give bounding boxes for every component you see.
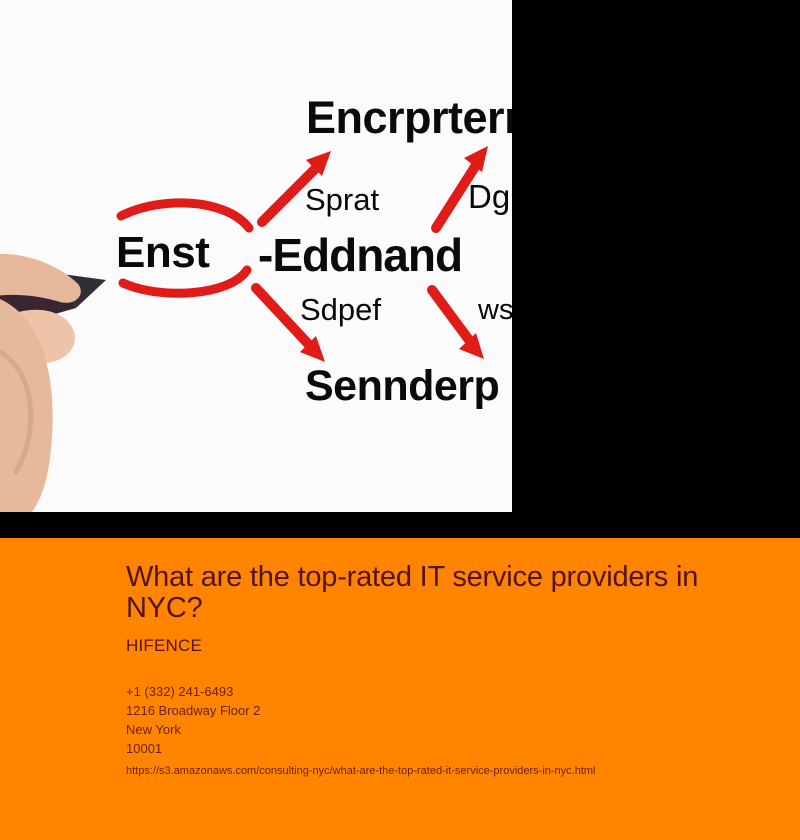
whiteboard-image: Encrprterni Sprat Dg Enst -Eddnand Sdpef… <box>0 0 512 512</box>
page-root: Encrprterni Sprat Dg Enst -Eddnand Sdpef… <box>0 0 800 840</box>
hero-media: Encrprterni Sprat Dg Enst -Eddnand Sdpef… <box>0 0 800 538</box>
info-content: What are the top-rated IT service provid… <box>126 562 766 778</box>
contact-postal-code: 10001 <box>126 739 766 758</box>
diagram-label-ws: ws <box>478 294 512 327</box>
hand-with-marker-illustration <box>0 196 194 512</box>
arrow-down-right <box>432 290 484 359</box>
page-title: What are the top-rated IT service provid… <box>126 562 766 624</box>
contact-street: 1216 Broadway Floor 2 <box>126 701 766 720</box>
contact-phone[interactable]: +1 (332) 241-6493 <box>126 682 766 701</box>
diagram-bottom-word: Sennderp <box>305 362 499 411</box>
diagram-label-sdpef: Sdpef <box>300 292 381 328</box>
diagram-label-sprat: Sprat <box>305 182 379 218</box>
diagram-center-right-word: -Eddnand <box>258 228 462 282</box>
contact-city: New York <box>126 720 766 739</box>
diagram-top-word: Encrprterni <box>306 92 512 144</box>
info-panel: What are the top-rated IT service provid… <box>0 538 800 840</box>
diagram-label-dg: Dg <box>468 178 510 216</box>
source-url-link[interactable]: https://s3.amazonaws.com/consulting-nyc/… <box>126 764 766 778</box>
contact-block: +1 (332) 241-6493 1216 Broadway Floor 2 … <box>126 682 766 758</box>
brand-name: HIFENCE <box>126 636 766 656</box>
